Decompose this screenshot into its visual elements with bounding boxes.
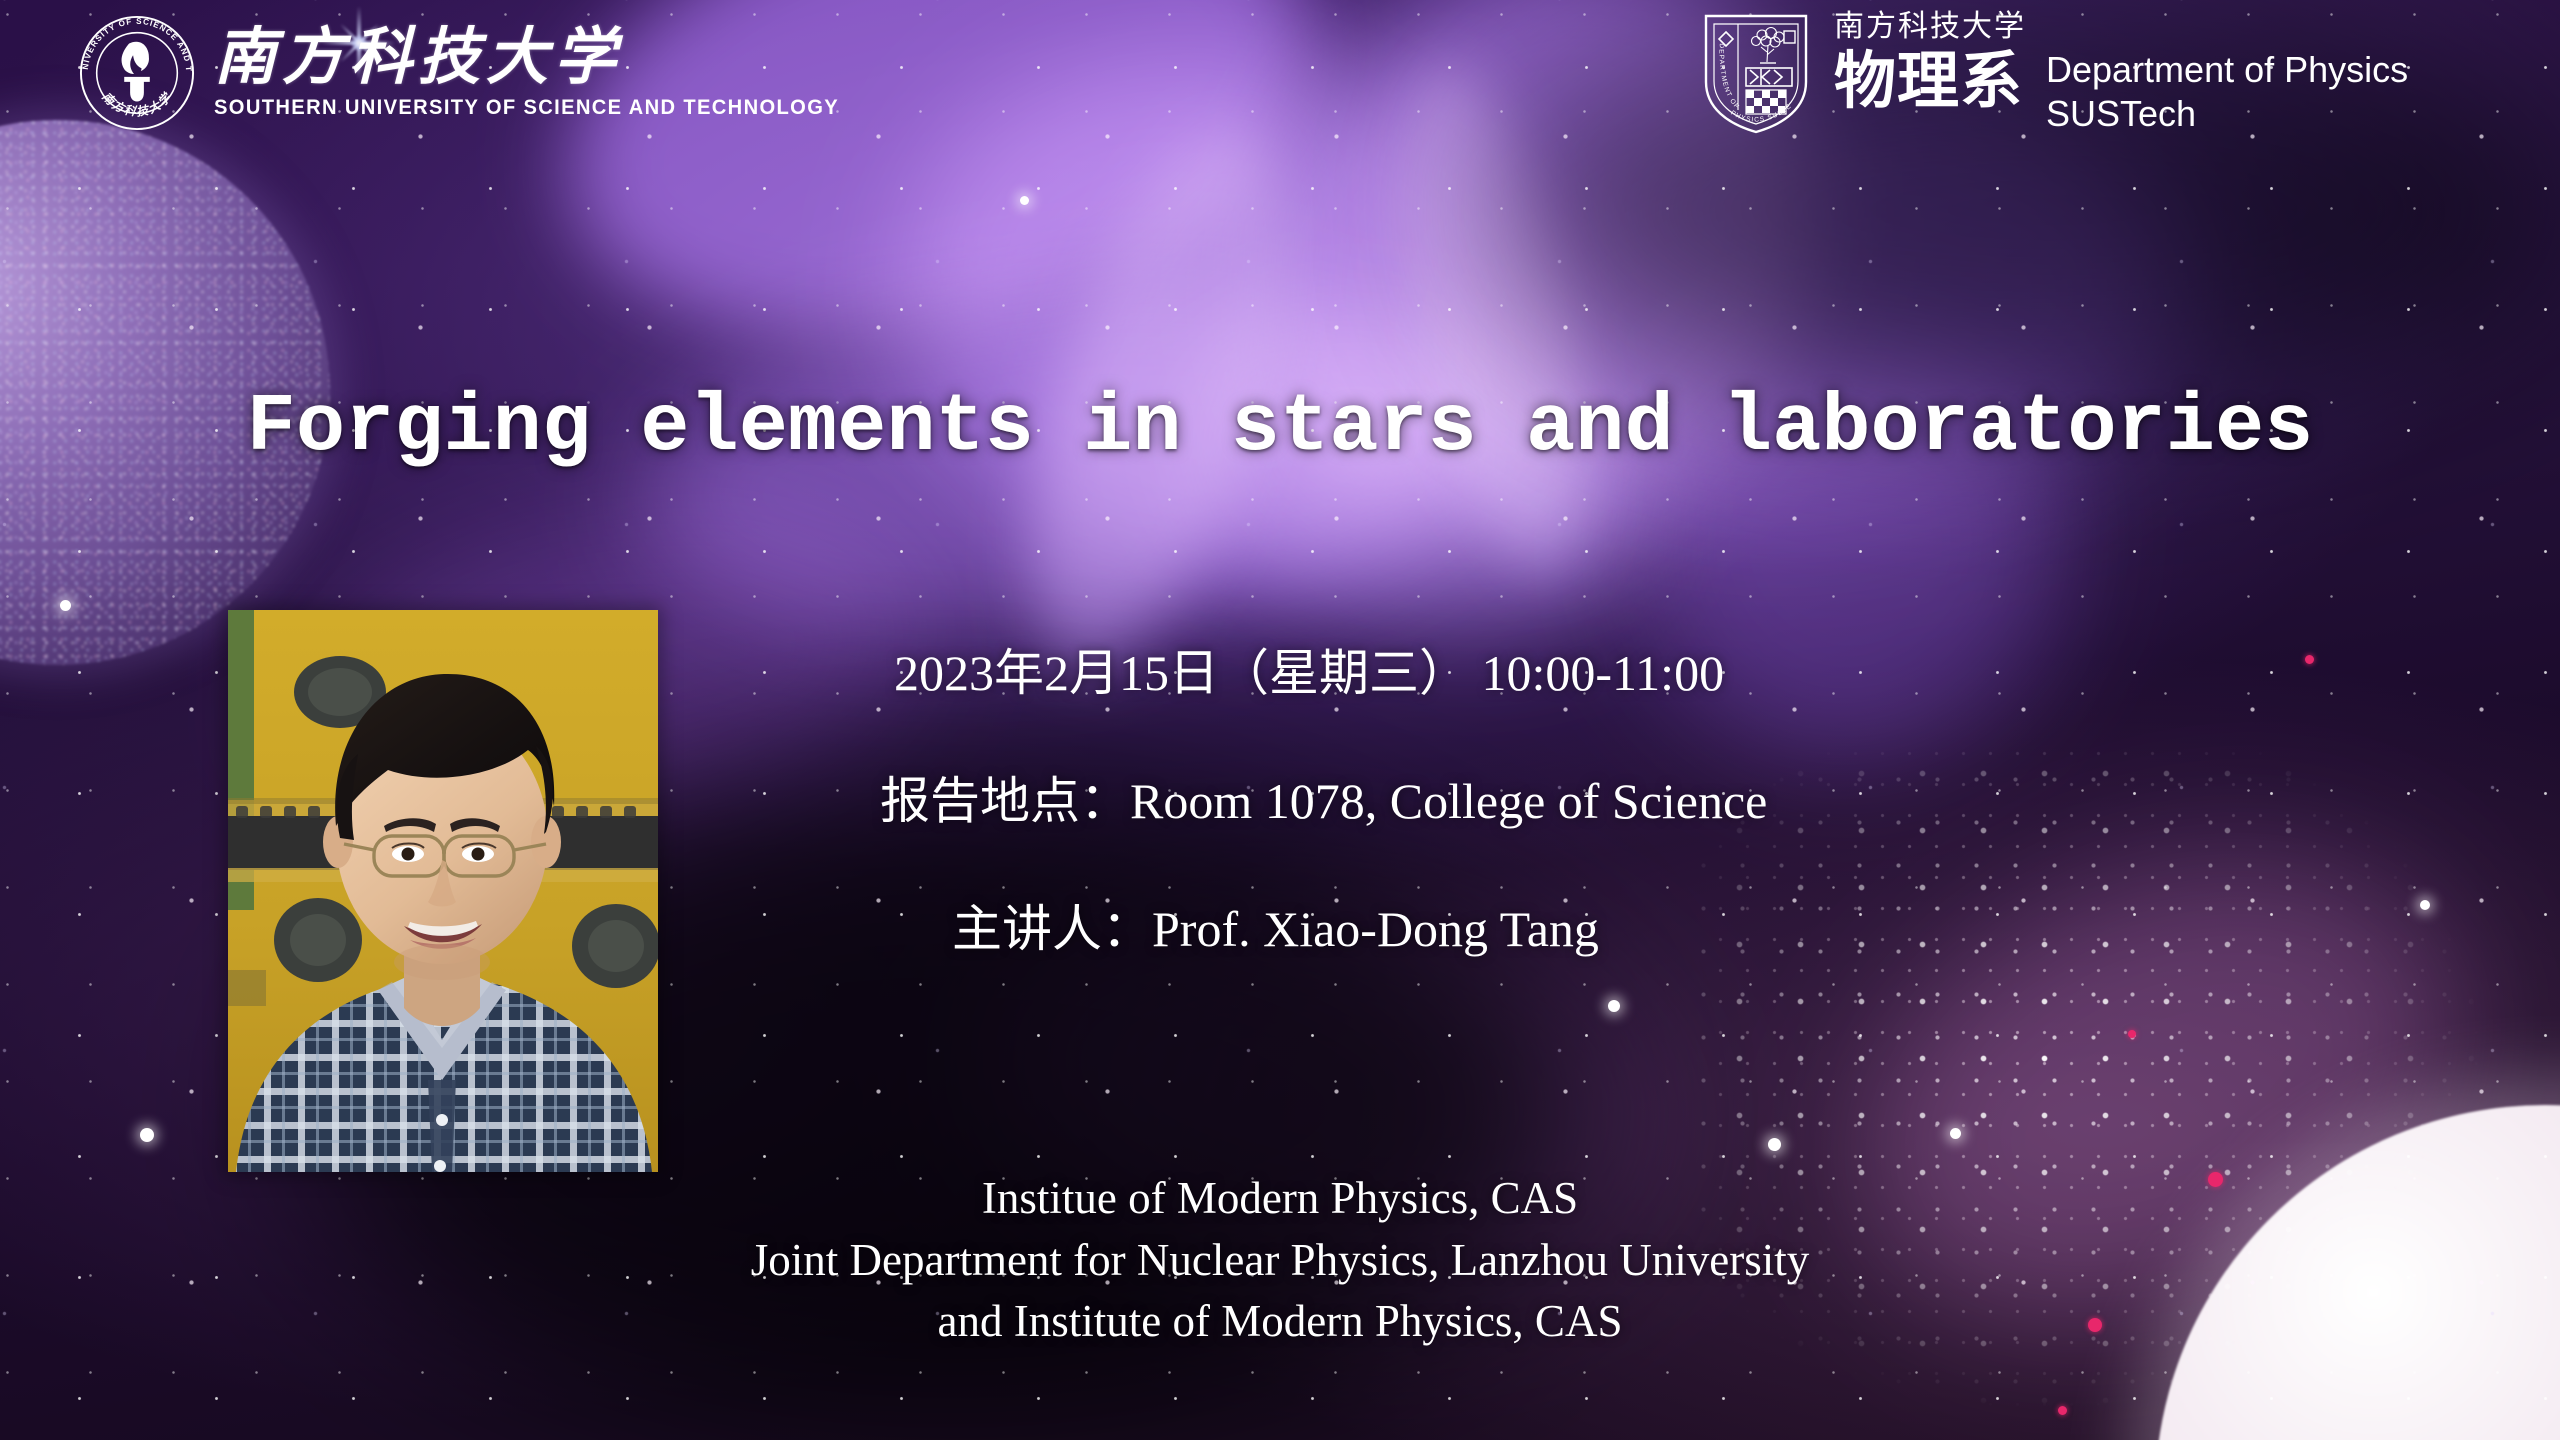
sustech-seal-icon: SOUTHERN UNIVERSITY OF SCIENCE AND TECHN… bbox=[78, 14, 196, 132]
physics-chinese-department: 物理系 bbox=[1834, 49, 2026, 114]
seminar-poster: SOUTHERN UNIVERSITY OF SCIENCE AND TECHN… bbox=[0, 0, 2560, 1440]
sustech-chinese-wordmark: 南方科技大学 bbox=[214, 27, 865, 89]
affiliation-line-1: Institue of Modern Physics, CAS bbox=[0, 1168, 2560, 1230]
physics-english-line2: SUSTech bbox=[2046, 92, 2408, 136]
event-details: 2023年2月15日（星期三） 10:00-11:00 报告地点：Room 10… bbox=[880, 645, 2080, 957]
page-title: Forging elements in stars and laboratori… bbox=[0, 385, 2560, 471]
speaker-portrait-image bbox=[228, 610, 658, 1172]
affiliation-line-2: Joint Department for Nuclear Physics, La… bbox=[0, 1230, 2560, 1292]
physics-department-logo: DEPARTMENT OF PHYSICS SUSTECH 南方科技大学 物理系… bbox=[1700, 10, 2408, 136]
sustech-logo: SOUTHERN UNIVERSITY OF SCIENCE AND TECHN… bbox=[78, 14, 865, 132]
physics-department-shield-icon: DEPARTMENT OF PHYSICS SUSTECH bbox=[1700, 10, 1812, 136]
event-datetime: 2023年2月15日（星期三） 10:00-11:00 bbox=[894, 645, 2080, 701]
affiliation-line-3: and Institute of Modern Physics, CAS bbox=[0, 1291, 2560, 1353]
physics-chinese-university: 南方科技大学 bbox=[1834, 10, 2026, 43]
event-speaker: 主讲人：Prof. Xiao-Dong Tang bbox=[952, 901, 2080, 957]
svg-text:DEPARTMENT OF: DEPARTMENT OF bbox=[1718, 43, 1741, 111]
speaker-photo bbox=[228, 610, 658, 1172]
physics-english-department: Department of Physics SUSTech bbox=[2046, 48, 2408, 136]
physics-english-line1: Department of Physics bbox=[2046, 48, 2408, 92]
speaker-affiliation: Institue of Modern Physics, CAS Joint De… bbox=[0, 1168, 2560, 1353]
event-location: 报告地点：Room 1078, College of Science bbox=[880, 773, 2080, 829]
sustech-english-wordmark: SOUTHERN UNIVERSITY OF SCIENCE AND TECHN… bbox=[214, 96, 839, 120]
